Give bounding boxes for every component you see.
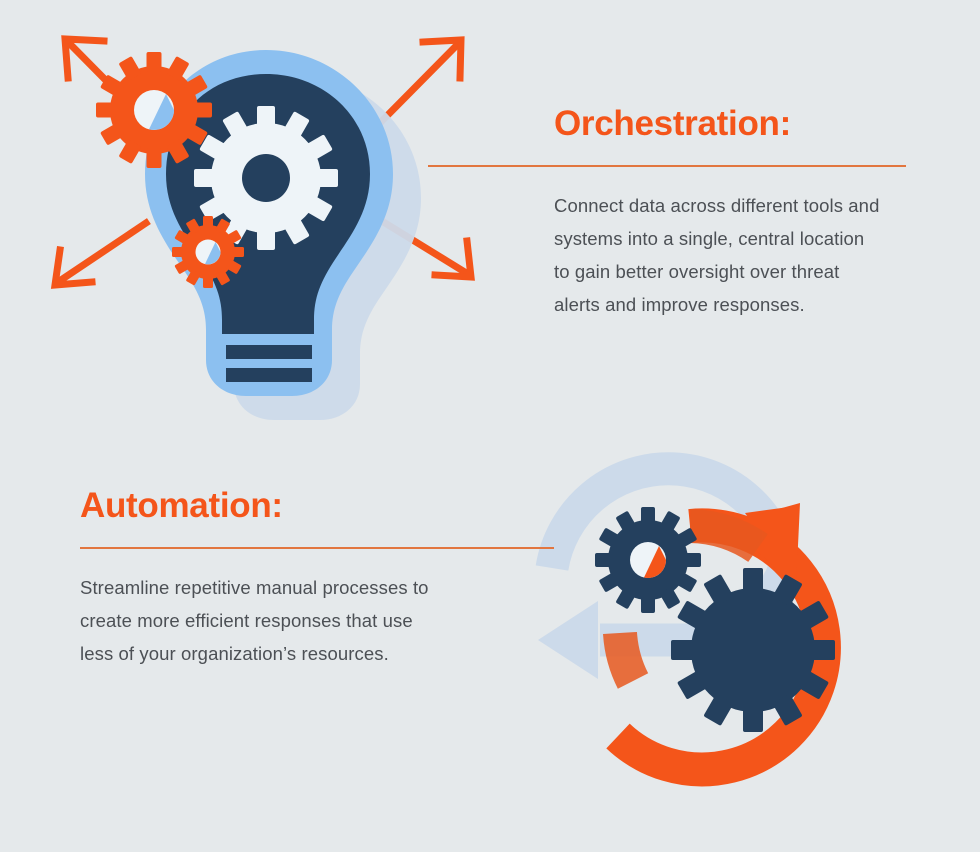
orchestration-heading: Orchestration: — [428, 106, 906, 143]
arrow-down-left — [55, 223, 146, 285]
automation-heading: Automation: — [80, 488, 554, 525]
orchestration-body: Connect data across different tools and … — [428, 167, 884, 321]
gear-navy-small — [595, 507, 701, 613]
infographic-canvas: Orchestration: Connect data across diffe… — [0, 0, 980, 852]
automation-body: Streamline repetitive manual processes t… — [80, 549, 440, 670]
section-orchestration: Orchestration: Connect data across diffe… — [428, 106, 906, 321]
cycle-arrows-gears-icon — [500, 418, 900, 818]
section-automation: Automation: Streamline repetitive manual… — [80, 488, 554, 670]
